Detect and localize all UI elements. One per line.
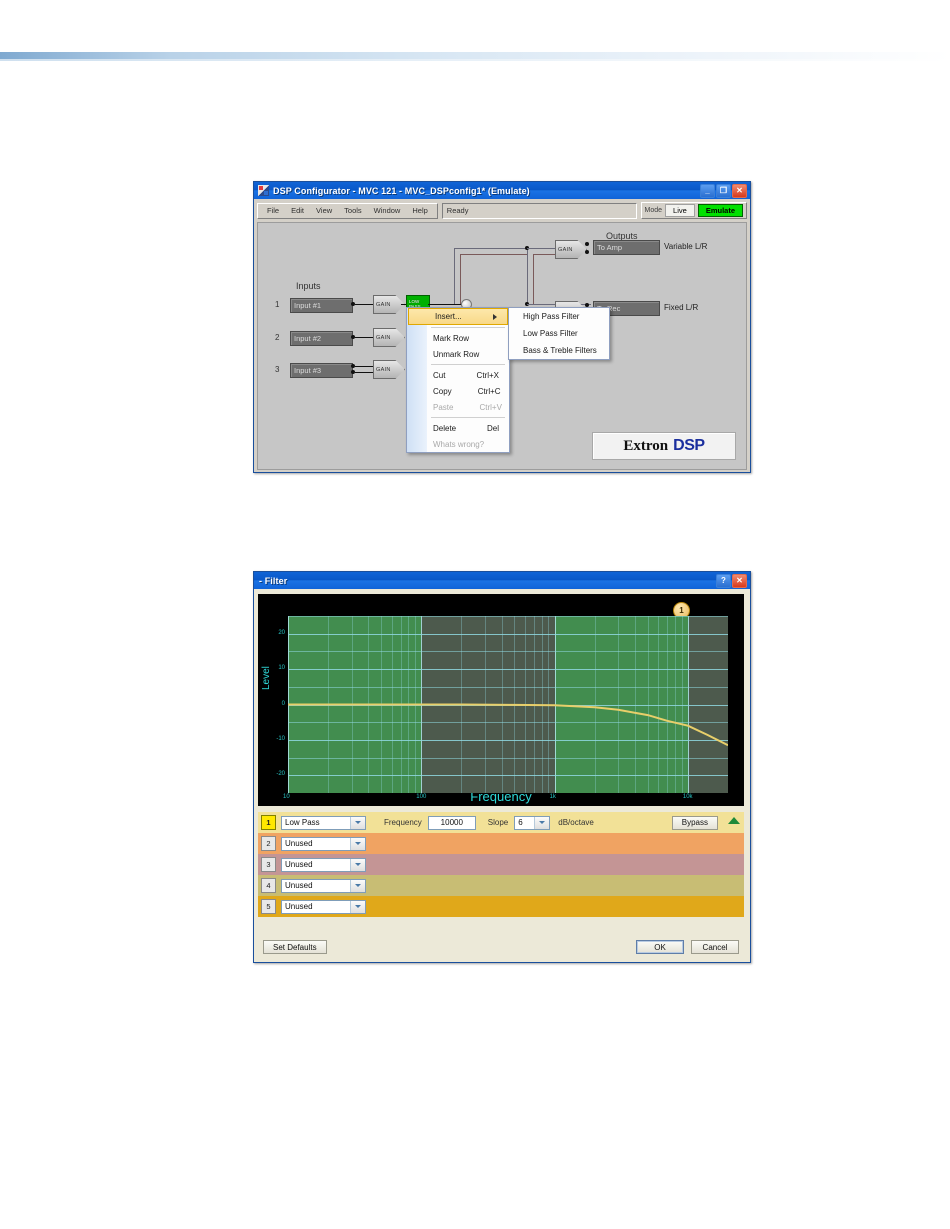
input-box-2[interactable]: Input #2: [290, 331, 353, 346]
scroll-up-arrow-icon[interactable]: [728, 817, 740, 824]
input-number-1: 1: [275, 300, 279, 309]
minimize-button[interactable]: _: [700, 184, 715, 198]
frequency-input[interactable]: 10000: [428, 816, 476, 830]
window-controls: _ ❐ ✕: [700, 184, 748, 198]
menu-item-window[interactable]: Window: [368, 206, 407, 215]
set-defaults-button[interactable]: Set Defaults: [263, 940, 327, 954]
plot-area: [288, 616, 728, 793]
output-box-1[interactable]: To Amp: [593, 240, 660, 255]
output-label-2: Fixed L/R: [664, 303, 698, 312]
x-tick-1k: 1k: [550, 794, 556, 800]
app-icon: [258, 185, 269, 196]
dsp-configurator-window: DSP Configurator - MVC 121 - MVC_DSPconf…: [253, 181, 751, 473]
context-menu-item-copy-label: Copy: [433, 387, 452, 396]
menu-bar: File Edit View Tools Window Help: [257, 203, 438, 219]
gain-block-2[interactable]: GAIN: [373, 328, 405, 347]
context-menu-item-mark-row[interactable]: Mark Row: [407, 330, 509, 346]
frequency-label: Frequency: [384, 818, 422, 827]
context-menu-item-unmark-row[interactable]: Unmark Row: [407, 346, 509, 362]
menu-item-file[interactable]: File: [261, 206, 285, 215]
mode-label: Mode: [645, 207, 663, 214]
help-button[interactable]: ?: [716, 574, 731, 588]
dialog-footer: Set Defaults OK Cancel: [258, 936, 744, 958]
status-bar: Ready: [442, 203, 637, 219]
context-menu-item-delete-accel: Del: [461, 424, 499, 433]
insert-submenu[interactable]: High Pass Filter Low Pass Filter Bass & …: [508, 307, 610, 360]
lowpass-out-wire: [428, 304, 463, 305]
menu-item-tools[interactable]: Tools: [338, 206, 368, 215]
menu-item-view[interactable]: View: [310, 206, 338, 215]
context-menu-item-delete-label: Delete: [433, 424, 456, 433]
chevron-down-icon-5[interactable]: [350, 901, 365, 913]
page-header-rule: [0, 52, 950, 59]
context-menu-item-cut-accel: Ctrl+X: [451, 371, 499, 380]
input-wire-3b: [355, 372, 373, 373]
bus-wire-h4: [533, 254, 555, 255]
input-wire-1: [355, 304, 373, 305]
filter-type-value-5: Unused: [285, 902, 313, 911]
logo-dsp-text: DSP: [673, 437, 704, 455]
output-port-dot-1b: [585, 250, 589, 254]
chevron-down-icon-4[interactable]: [350, 880, 365, 892]
slope-label: Slope: [488, 818, 508, 827]
filter-type-value-3: Unused: [285, 860, 313, 869]
filter-row-number-2[interactable]: 2: [261, 836, 276, 851]
context-menu-item-unmark-row-label: Unmark Row: [433, 350, 479, 359]
close-button[interactable]: ✕: [732, 184, 747, 198]
chevron-right-icon: [493, 314, 497, 320]
context-menu-item-insert[interactable]: Insert...: [408, 308, 508, 325]
output-port-dot-1a: [585, 242, 589, 246]
response-curve: [288, 616, 728, 793]
context-menu-item-insert-label: Insert...: [435, 312, 462, 321]
bypass-button[interactable]: Bypass: [672, 816, 718, 830]
menu-item-help[interactable]: Help: [406, 206, 433, 215]
output-gain-block-1[interactable]: GAIN: [555, 240, 587, 259]
filter-dialog-title: - Filter: [259, 576, 287, 586]
context-menu[interactable]: Insert... Mark Row Unmark Row Cut Ctrl+X…: [406, 307, 510, 453]
submenu-item-bass-treble-filters[interactable]: Bass & Treble Filters: [509, 342, 609, 359]
slope-value: 6: [518, 818, 522, 827]
chevron-down-icon-3[interactable]: [350, 859, 365, 871]
inputs-heading: Inputs: [296, 281, 321, 291]
y-tick-0: 0: [261, 701, 285, 707]
mode-live-button[interactable]: Live: [665, 204, 695, 217]
chevron-down-icon-slope[interactable]: [534, 817, 549, 829]
window-title: DSP Configurator - MVC 121 - MVC_DSPconf…: [273, 186, 530, 196]
y-tick-20: 20: [261, 630, 285, 636]
filter-row-2[interactable]: 2 Unused: [258, 833, 744, 854]
filter-type-value-2: Unused: [285, 839, 313, 848]
bus-wire-v1: [454, 248, 455, 304]
context-menu-item-paste-label: Paste: [433, 403, 453, 412]
filter-row-number-1[interactable]: 1: [261, 815, 276, 830]
y-tick--20: -20: [261, 771, 285, 777]
chevron-down-icon-2[interactable]: [350, 838, 365, 850]
context-menu-item-mark-row-label: Mark Row: [433, 334, 469, 343]
maximize-button[interactable]: ❐: [716, 184, 731, 198]
slope-select[interactable]: 6: [514, 816, 550, 830]
dialog-action-buttons: OK Cancel: [636, 940, 739, 954]
filter-type-value-4: Unused: [285, 881, 313, 890]
filter-type-select-4[interactable]: Unused: [281, 879, 366, 893]
y-tick--10: -10: [261, 736, 285, 742]
bus-wire-v3: [527, 248, 528, 304]
filter-row-1[interactable]: 1 Low Pass Frequency 10000 Slope 6 dB/oc…: [258, 812, 744, 833]
filter-close-button[interactable]: ✕: [732, 574, 747, 588]
bus-wire-v2: [460, 254, 461, 304]
input-wire-2: [355, 337, 373, 338]
signal-flow-canvas[interactable]: Inputs Outputs 1 Input #1 GAIN LOW PASS …: [257, 222, 747, 470]
ok-button[interactable]: OK: [636, 940, 684, 954]
x-tick-100: 100: [416, 794, 426, 800]
filter-type-value-1: Low Pass: [285, 818, 320, 827]
input-number-2: 2: [275, 333, 279, 342]
filter-row-number-4[interactable]: 4: [261, 878, 276, 893]
x-tick-10: 10: [283, 794, 290, 800]
context-menu-item-copy-accel: Ctrl+C: [452, 387, 501, 396]
page-header-rule-thin: [0, 59, 950, 61]
filter-row-4[interactable]: 4 Unused: [258, 875, 744, 896]
mode-switch: Mode Live Emulate: [641, 202, 747, 219]
menu-strip: File Edit View Tools Window Help Ready M…: [254, 199, 750, 222]
filter-response-graph[interactable]: 1 Level Frequency 20100-10-20101001k10k: [258, 594, 744, 806]
filter-type-select-1[interactable]: Low Pass: [281, 816, 366, 830]
input-number-3: 3: [275, 365, 279, 374]
filter-type-select-2[interactable]: Unused: [281, 837, 366, 851]
bus-wire-v4: [533, 254, 534, 304]
cancel-button[interactable]: Cancel: [691, 940, 739, 954]
logo-extron-text: Extron: [623, 438, 668, 455]
menu-item-edit[interactable]: Edit: [285, 206, 310, 215]
submenu-item-low-pass-filter[interactable]: Low Pass Filter: [509, 325, 609, 342]
slope-unit-label: dB/octave: [558, 818, 594, 827]
context-menu-item-paste: Paste Ctrl+V: [407, 399, 509, 415]
filter-row-number-5[interactable]: 5: [261, 899, 276, 914]
extron-dsp-logo: Extron DSP: [592, 432, 736, 460]
input-wire-3a: [355, 366, 373, 367]
submenu-item-high-pass-filter[interactable]: High Pass Filter: [509, 308, 609, 325]
context-menu-item-whats-wrong: Whats wrong?: [407, 436, 509, 452]
input-box-3[interactable]: Input #3: [290, 363, 353, 378]
context-menu-item-whats-wrong-label: Whats wrong?: [433, 440, 484, 449]
filter-row-5[interactable]: 5 Unused: [258, 896, 744, 917]
chevron-down-icon-1[interactable]: [350, 817, 365, 829]
filter-dialog: - Filter ? ✕ 1 Level Frequency 20100-10-…: [253, 571, 751, 963]
bus-wire-h1: [454, 248, 528, 249]
filter-dialog-titlebar: - Filter ? ✕: [254, 572, 750, 589]
filter-row-number-3[interactable]: 3: [261, 857, 276, 872]
filter-row-3[interactable]: 3 Unused: [258, 854, 744, 875]
context-menu-separator-1: [431, 327, 505, 328]
y-tick-10: 10: [261, 665, 285, 671]
output-label-1: Variable L/R: [664, 242, 707, 251]
window-titlebar: DSP Configurator - MVC 121 - MVC_DSPconf…: [254, 182, 750, 199]
mode-emulate-button[interactable]: Emulate: [698, 204, 743, 217]
filter-dialog-controls: ? ✕: [716, 574, 748, 588]
context-menu-separator-3: [431, 417, 505, 418]
context-menu-item-cut-label: Cut: [433, 371, 445, 380]
context-menu-item-copy[interactable]: Copy Ctrl+C: [407, 383, 509, 399]
x-tick-10k: 10k: [683, 794, 693, 800]
context-menu-item-delete[interactable]: Delete Del: [407, 420, 509, 436]
context-menu-separator-2: [431, 364, 505, 365]
status-text: Ready: [447, 206, 469, 215]
context-menu-item-paste-accel: Ctrl+V: [453, 403, 501, 412]
filter-type-select-5[interactable]: Unused: [281, 900, 366, 914]
filter-type-select-3[interactable]: Unused: [281, 858, 366, 872]
bus-wire-h3: [527, 248, 555, 249]
gain-block-3[interactable]: GAIN: [373, 360, 405, 379]
context-menu-item-cut[interactable]: Cut Ctrl+X: [407, 367, 509, 383]
bus-wire-h2: [460, 254, 528, 255]
input-box-1[interactable]: Input #1: [290, 298, 353, 313]
